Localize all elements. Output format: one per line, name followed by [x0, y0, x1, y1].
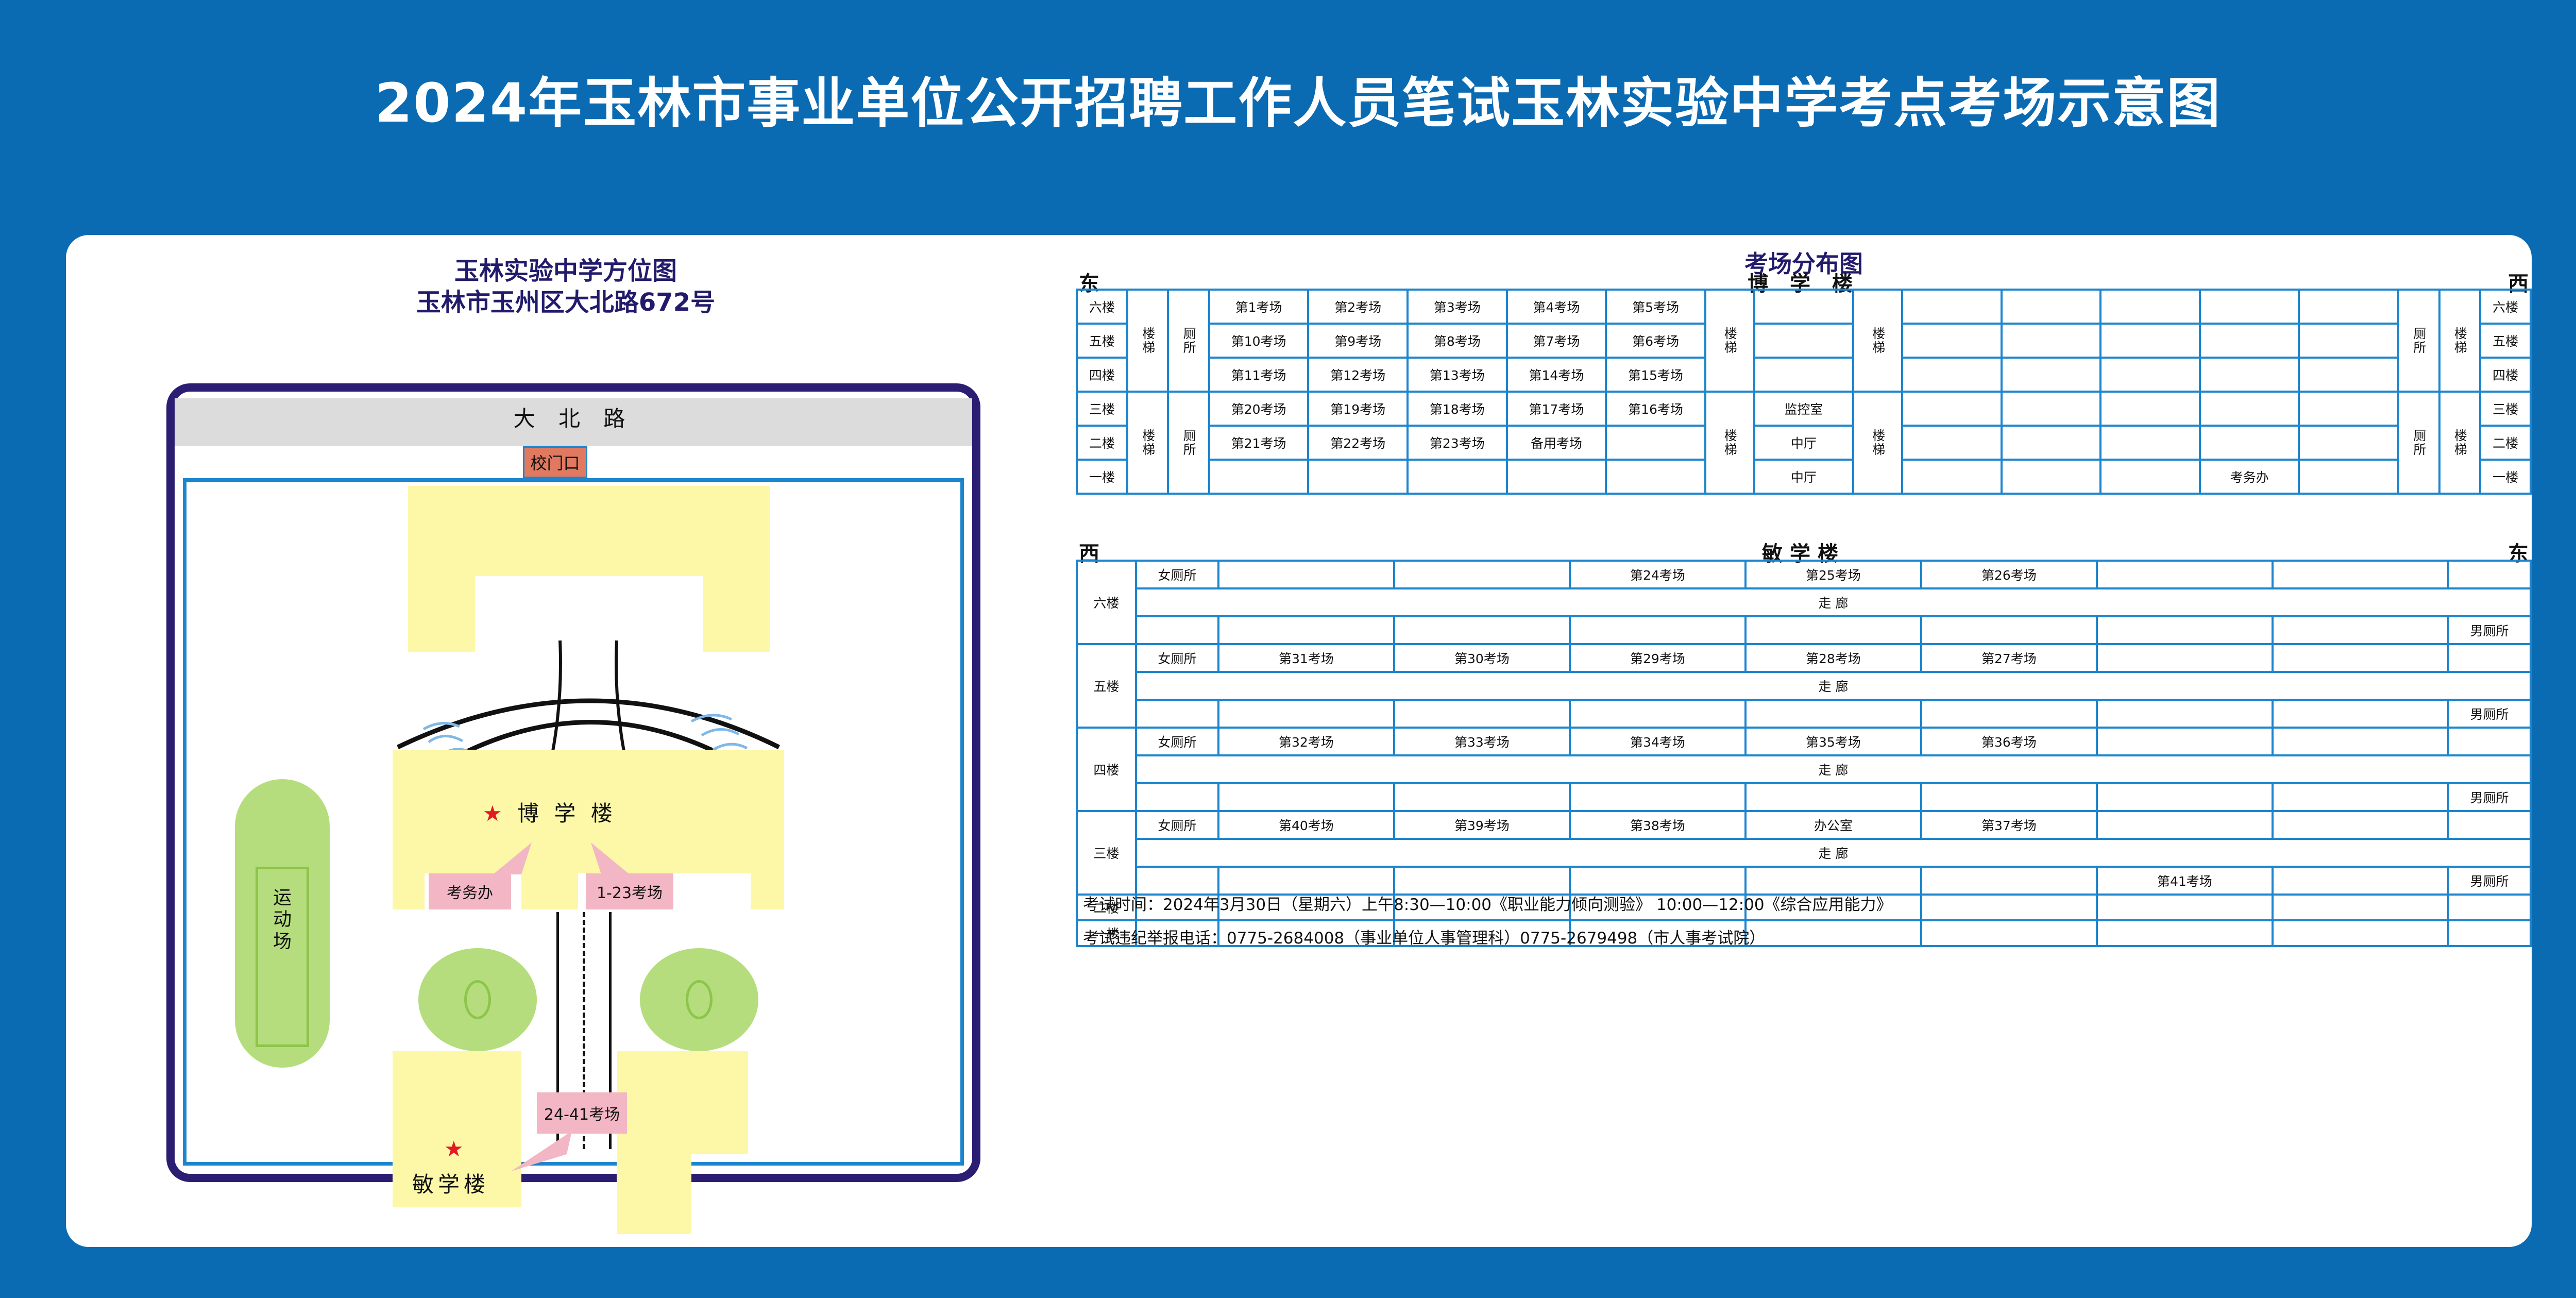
tag-kaowuban-pointer	[472, 842, 534, 876]
boxue-cell: 第18考场	[1408, 392, 1507, 426]
boxue-cell	[2200, 290, 2299, 324]
minxue-cell	[1745, 783, 1921, 811]
boxue-floor-left-2: 二楼	[1077, 426, 1127, 460]
minxue-floor-4: 四楼	[1077, 728, 1136, 811]
minxue-floor-3: 三楼	[1077, 811, 1136, 895]
boxue-stair-left-bot: 楼梯	[1127, 392, 1168, 494]
boxue-cell: 第7考场	[1507, 324, 1606, 358]
campus-boundary: ★ 博 学 楼 考务办 1-23考场	[183, 478, 964, 1166]
minxue-row-4-back: 男厕所	[1077, 783, 2531, 811]
boxue-cell	[1606, 460, 1705, 494]
minxue-cell	[1394, 561, 1570, 588]
minxue-cell	[2448, 811, 2531, 839]
minxue-cell	[1218, 700, 1394, 728]
boxue-cell: 第1考场	[1209, 290, 1309, 324]
boxue-toilet-right-bot: 厕所	[2398, 392, 2439, 494]
tag-rooms-24-41: 24-41考场	[537, 1092, 627, 1134]
boxue-toilet-left-bot: 厕所	[1168, 392, 1209, 494]
boxue-cell: 第8考场	[1408, 324, 1507, 358]
minxue-cell	[1570, 783, 1745, 811]
minxue-cell	[2448, 644, 2531, 672]
minxue-row-4-front: 四楼 女厕所 第32考场 第33考场 第34考场 第35考场 第36考场	[1077, 728, 2531, 755]
minxue-cell	[1570, 616, 1745, 644]
minxue-cell	[2273, 644, 2448, 672]
minxue-row-5-corridor: 走 廊	[1077, 672, 2531, 700]
minxue-cell: 女厕所	[1136, 644, 1218, 672]
lawn-left-ring	[464, 980, 491, 1019]
boxue-cell: 第5考场	[1606, 290, 1705, 324]
boxue-floor-right-6: 六楼	[2480, 290, 2531, 324]
boxue-cell	[1209, 460, 1309, 494]
school-gate-badge: 校门口	[523, 446, 587, 478]
minxue-cell	[1921, 616, 2097, 644]
minxue-corridor-3: 走 廊	[1136, 839, 2531, 867]
boxue-cell	[2299, 358, 2398, 392]
minxue-row-5-front: 五楼 女厕所 第31考场 第30考场 第29考场 第28考场 第27考场	[1077, 644, 2531, 672]
map-heading-line1: 玉林实验中学方位图	[66, 256, 1065, 287]
minxue-corridor-5: 走 廊	[1136, 672, 2531, 700]
boxue-row-6: 六楼 楼梯 厕所 第1考场 第2考场 第3考场 第4考场 第5考场 楼梯 楼梯	[1077, 290, 2531, 324]
minxue-cell	[2097, 700, 2273, 728]
minxue-cell	[2448, 561, 2531, 588]
boxue-cell	[2002, 392, 2101, 426]
minxue-row-3-front: 三楼 女厕所 第40考场 第39考场 第38考场 办公室 第37考场	[1077, 811, 2531, 839]
minxue-corridor-6: 走 廊	[1136, 588, 2531, 616]
boxue-stair-mid-left-bot: 楼梯	[1705, 392, 1754, 494]
boxue-cell: 第6考场	[1606, 324, 1705, 358]
boxue-cell	[2200, 324, 2299, 358]
minxue-row-5-back: 男厕所	[1077, 700, 2531, 728]
sports-track: 运动场	[235, 779, 330, 1068]
page-title: 2024年玉林市事业单位公开招聘工作人员笔试玉林实验中学考点考场示意图	[0, 62, 2576, 134]
boxue-cell	[2100, 392, 2200, 426]
boxue-mid-cell: 监控室	[1754, 392, 1854, 426]
boxue-cell: 第10考场	[1209, 324, 1309, 358]
minxue-cell	[2273, 700, 2448, 728]
boxue-cell	[1606, 426, 1705, 460]
boxue-floor-right-5: 五楼	[2480, 324, 2531, 358]
minxue-cell	[1570, 700, 1745, 728]
minxue-header-row: 西 敏学楼 东	[1076, 537, 2532, 560]
boxue-stair-right-top: 楼梯	[2439, 290, 2480, 392]
minxue-cell: 第30考场	[1394, 644, 1570, 672]
boxue-floor-right-4: 四楼	[2480, 358, 2531, 392]
plaza-arcs	[393, 636, 784, 755]
boxue-mid-cell	[1754, 358, 1854, 392]
boxue-stair-mid-left-top: 楼梯	[1705, 290, 1754, 392]
boxue-cell: 第22考场	[1308, 426, 1408, 460]
minxue-cell	[2097, 616, 2273, 644]
minxue-cell: 第40考场	[1218, 811, 1394, 839]
minxue-cell: 第35考场	[1745, 728, 1921, 755]
minxue-floor-6: 六楼	[1077, 561, 1136, 644]
minxue-cell	[1394, 700, 1570, 728]
boxue-cell	[2002, 290, 2101, 324]
boxue-cell	[2299, 324, 2398, 358]
minxue-cell: 第31考场	[1218, 644, 1394, 672]
boxue-cell	[2299, 460, 2398, 494]
boxue-floor-left-4: 四楼	[1077, 358, 1127, 392]
boxue-mid-cell: 中厅	[1754, 460, 1854, 494]
minxue-cell: 第39考场	[1394, 811, 1570, 839]
boxue-toilet-left-top: 厕所	[1168, 290, 1209, 392]
building-boxue-wingM	[521, 873, 578, 909]
boxue-cell	[2299, 426, 2398, 460]
boxue-cell-kaowuban: 考务办	[2200, 460, 2299, 494]
boxue-cell	[1507, 460, 1606, 494]
boxue-cell: 第11考场	[1209, 358, 1309, 392]
minxue-cell	[2448, 728, 2531, 755]
boxue-cell: 第14考场	[1507, 358, 1606, 392]
minxue-cell	[2273, 811, 2448, 839]
boxue-cell: 第4考场	[1507, 290, 1606, 324]
minxue-cell	[1394, 616, 1570, 644]
boxue-table: 六楼 楼梯 厕所 第1考场 第2考场 第3考场 第4考场 第5考场 楼梯 楼梯	[1076, 289, 2532, 495]
map-heading-line2: 玉林市玉州区大北路672号	[66, 287, 1065, 318]
boxue-mid-cell: 中厅	[1754, 426, 1854, 460]
boxue-cell: 第2考场	[1308, 290, 1408, 324]
road-strip: 大 北 路	[175, 398, 972, 446]
minxue-corridor-4: 走 廊	[1136, 755, 2531, 783]
boxue-cell: 第16考场	[1606, 392, 1705, 426]
boxue-cell	[2002, 358, 2101, 392]
minxue-cell	[2273, 561, 2448, 588]
map-heading: 玉林实验中学方位图 玉林市玉州区大北路672号	[66, 256, 1065, 319]
minxue-cell: 第29考场	[1570, 644, 1745, 672]
boxue-cell: 第23考场	[1408, 426, 1507, 460]
minxue-row-6-back: 男厕所	[1077, 616, 2531, 644]
boxue-cell	[1902, 426, 2002, 460]
boxue-cell: 第19考场	[1308, 392, 1408, 426]
boxue-row-2: 二楼 第21考场 第22考场 第23考场 备用考场 中厅 二楼	[1077, 426, 2531, 460]
star-icon-minxue: ★	[444, 1136, 464, 1161]
boxue-row-5: 五楼 第10考场 第9考场 第8考场 第7考场 第6考场 五楼	[1077, 324, 2531, 358]
minxue-cell: 第28考场	[1745, 644, 1921, 672]
footer-exam-time: 考试时间：2024年3月30日（星期六）上午8:30—10:00《职业能力倾向测…	[1083, 888, 2526, 922]
campus-map-panel: 玉林实验中学方位图 玉林市玉州区大北路672号 大 北 路 校门口	[66, 235, 1065, 1247]
minxue-cell	[2097, 561, 2273, 588]
footer-report-phone: 考试违纪举报电话：0775-2684008（事业单位人事管理科）0775-267…	[1083, 922, 2526, 955]
minxue-cell: 第25考场	[1745, 561, 1921, 588]
boxue-cell	[2200, 392, 2299, 426]
minxue-cell: 第24考场	[1570, 561, 1745, 588]
boxue-cell: 第20考场	[1209, 392, 1309, 426]
minxue-cell	[1745, 700, 1921, 728]
minxue-cell	[1921, 700, 2097, 728]
tag-rooms-1-23: 1-23考场	[586, 873, 673, 909]
boxue-stair-mid-right-top: 楼梯	[1853, 290, 1902, 392]
minxue-cell: 女厕所	[1136, 561, 1218, 588]
boxue-cell	[2299, 392, 2398, 426]
minxue-cell: 第32考场	[1218, 728, 1394, 755]
boxue-cell	[2299, 290, 2398, 324]
minxue-cell	[2097, 783, 2273, 811]
tag-rooms-1-23-pointer	[588, 842, 650, 876]
minxue-cell	[1136, 616, 1218, 644]
minxue-cell: 第33考场	[1394, 728, 1570, 755]
boxue-stair-right-bot: 楼梯	[2439, 392, 2480, 494]
minxue-cell	[1136, 783, 1218, 811]
minxue-cell: 第36考场	[1921, 728, 2097, 755]
boxue-cell	[2100, 460, 2200, 494]
boxue-cell: 第21考场	[1209, 426, 1309, 460]
boxue-row-4: 四楼 第11考场 第12考场 第13考场 第14考场 第15考场 四楼	[1077, 358, 2531, 392]
boxue-cell	[2002, 426, 2101, 460]
minxue-cell-office: 办公室	[1745, 811, 1921, 839]
boxue-cell	[2100, 426, 2200, 460]
boxue-cell: 第17考场	[1507, 392, 1606, 426]
map-frame: 大 北 路 校门口	[166, 383, 980, 1182]
boxue-table-wrap: 六楼 楼梯 厕所 第1考场 第2考场 第3考场 第4考场 第5考场 楼梯 楼梯	[1076, 289, 2532, 495]
building-boxue-wingR	[751, 873, 784, 909]
minxue-cell	[1218, 561, 1394, 588]
minxue-cell	[2273, 616, 2448, 644]
boxue-row-1: 一楼 中厅 考务办 一楼	[1077, 460, 2531, 494]
minxue-cell	[1921, 783, 2097, 811]
minxue-cell	[2273, 728, 2448, 755]
minxue-row-3-corridor: 走 廊	[1077, 839, 2531, 867]
minxue-cell: 第34考场	[1570, 728, 1745, 755]
boxue-row-3: 三楼 楼梯 厕所 第20考场 第19考场 第18考场 第17考场 第16考场 楼…	[1077, 392, 2531, 426]
boxue-cell	[1902, 460, 2002, 494]
minxue-cell: 女厕所	[1136, 728, 1218, 755]
boxue-stair-left-top: 楼梯	[1127, 290, 1168, 392]
boxue-cell	[1902, 324, 2002, 358]
minxue-cell: 第38考场	[1570, 811, 1745, 839]
boxue-toilet-right-top: 厕所	[2398, 290, 2439, 392]
boxue-cell	[2200, 426, 2299, 460]
sports-track-label: 运动场	[235, 887, 330, 953]
boxue-floor-left-6: 六楼	[1077, 290, 1127, 324]
minxue-cell-male-toilet: 男厕所	[2448, 700, 2531, 728]
building-lower-right2	[617, 1051, 691, 1234]
road-label: 大 北 路	[175, 401, 972, 433]
boxue-cell: 第13考场	[1408, 358, 1507, 392]
minxue-cell-male-toilet: 男厕所	[2448, 616, 2531, 644]
minxue-row-6-front: 六楼 女厕所 第24考场 第25考场 第26考场	[1077, 561, 2531, 588]
boxue-floor-left-5: 五楼	[1077, 324, 1127, 358]
minxue-cell: 第37考场	[1921, 811, 2097, 839]
boxue-cell: 第15考场	[1606, 358, 1705, 392]
lawn-left	[418, 948, 537, 1051]
minxue-cell	[2097, 644, 2273, 672]
building-boxue-wingL	[393, 873, 425, 909]
boxue-cell	[1408, 460, 1507, 494]
minxue-cell-male-toilet: 男厕所	[2448, 783, 2531, 811]
tag-rooms-24-41-pointer	[506, 1131, 573, 1172]
minxue-cell: 第27考场	[1921, 644, 2097, 672]
boxue-cell	[2100, 290, 2200, 324]
footer-notes: 考试时间：2024年3月30日（星期六）上午8:30—10:00《职业能力倾向测…	[1083, 888, 2526, 955]
boxue-floor-right-2: 二楼	[2480, 426, 2531, 460]
minxue-cell	[1745, 616, 1921, 644]
boxue-cell	[2100, 358, 2200, 392]
boxue-cell	[2002, 324, 2101, 358]
minxue-cell: 女厕所	[1136, 811, 1218, 839]
minxue-cell	[2097, 811, 2273, 839]
building-boxue-label: ★ 博 学 楼	[483, 796, 617, 828]
boxue-mid-cell	[1754, 324, 1854, 358]
boxue-floor-left-1: 一楼	[1077, 460, 1127, 494]
minxue-cell	[1394, 783, 1570, 811]
boxue-floor-right-1: 一楼	[2480, 460, 2531, 494]
boxue-cell	[1308, 460, 1408, 494]
tag-kaowuban: 考务办	[429, 873, 511, 909]
boxue-cell	[1902, 358, 2002, 392]
boxue-cell: 第3考场	[1408, 290, 1507, 324]
boxue-cell: 第9考场	[1308, 324, 1408, 358]
lawn-right	[640, 948, 758, 1051]
exam-room-tables-panel: 考场分布图 东 博 学 楼 西 六楼 楼梯	[1076, 235, 2532, 1247]
boxue-floor-left-3: 三楼	[1077, 392, 1127, 426]
boxue-mid-cell	[1754, 290, 1854, 324]
minxue-cell	[2273, 783, 2448, 811]
content-card: 玉林实验中学方位图 玉林市玉州区大北路672号 大 北 路 校门口	[66, 235, 2532, 1247]
boxue-header-row: 东 博 学 楼 西	[1076, 267, 2532, 290]
minxue-cell	[1136, 700, 1218, 728]
minxue-cell: 第26考场	[1921, 561, 2097, 588]
boxue-cell	[2200, 358, 2299, 392]
boxue-cell: 备用考场	[1507, 426, 1606, 460]
boxue-cell	[1902, 290, 2002, 324]
boxue-cell	[2100, 324, 2200, 358]
boxue-cell	[1902, 392, 2002, 426]
lawn-right-ring	[686, 980, 713, 1019]
minxue-row-6-corridor: 走 廊	[1077, 588, 2531, 616]
building-block-top-bar	[408, 486, 770, 576]
minxue-floor-5: 五楼	[1077, 644, 1136, 728]
building-minxue-label: 敏学楼	[412, 1167, 489, 1199]
minxue-cell	[2097, 728, 2273, 755]
star-icon-boxue: ★	[483, 801, 506, 826]
boxue-floor-right-3: 三楼	[2480, 392, 2531, 426]
boxue-stair-mid-right-bot: 楼梯	[1853, 392, 1902, 494]
boxue-cell	[2002, 460, 2101, 494]
minxue-cell	[1218, 616, 1394, 644]
minxue-cell	[1218, 783, 1394, 811]
boxue-cell: 第12考场	[1308, 358, 1408, 392]
minxue-row-4-corridor: 走 廊	[1077, 755, 2531, 783]
